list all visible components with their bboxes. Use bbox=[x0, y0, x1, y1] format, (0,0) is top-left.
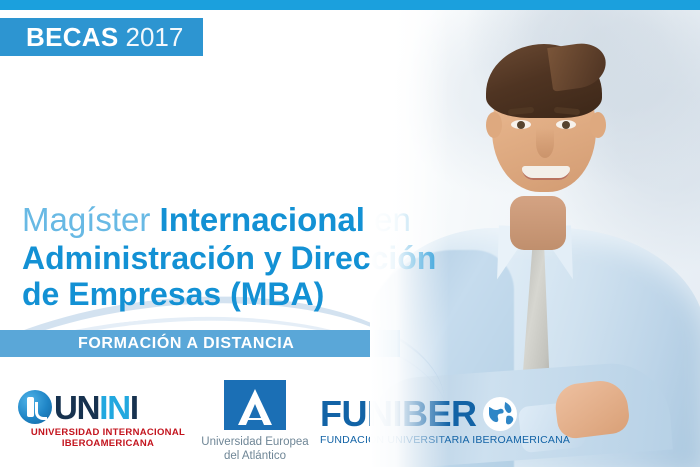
becas-label: BECAS bbox=[26, 22, 119, 53]
uneatlantico-name-line1: Universidad Europea bbox=[200, 435, 310, 449]
uneatlantico-name-line2: del Atlántico bbox=[200, 449, 310, 463]
nose bbox=[536, 128, 554, 158]
unini-wordmark-part1: UN bbox=[54, 389, 99, 426]
eye-left bbox=[511, 120, 531, 129]
headline-en: en bbox=[374, 201, 411, 238]
unini-wordmark-part3: I bbox=[130, 389, 138, 426]
ear-left bbox=[486, 112, 502, 138]
unini-wordmark: UNINI bbox=[54, 391, 138, 424]
modality-label: FORMACIÓN A DISTANCIA bbox=[78, 335, 294, 353]
modality-banner: FORMACIÓN A DISTANCIA bbox=[0, 330, 400, 357]
headline-magister: Magíster bbox=[22, 201, 150, 238]
unini-subtitle-line1: UNIVERSIDAD INTERNACIONAL bbox=[18, 427, 198, 438]
eye-right bbox=[556, 120, 576, 129]
uneatlantico-name: Universidad Europea del Atlántico bbox=[200, 435, 310, 464]
neck bbox=[510, 196, 566, 250]
mouth bbox=[522, 166, 570, 180]
unini-logo: UNINI UNIVERSIDAD INTERNACIONAL IBEROAME… bbox=[18, 390, 198, 449]
logo-row: UNINI UNIVERSIDAD INTERNACIONAL IBEROAME… bbox=[0, 380, 700, 467]
top-accent-bar bbox=[0, 0, 700, 10]
funiber-logo: FUNIBER FUNDACIÓN UNIVERSITARIA IBEROAME… bbox=[320, 396, 620, 446]
unini-wordmark-part2: IN bbox=[99, 389, 130, 426]
funiber-wordmark: FUNIBER bbox=[320, 396, 477, 432]
unini-subtitle-line2: IBEROAMERICANA bbox=[18, 438, 198, 449]
headline-line-1: Magíster Internacional en bbox=[22, 203, 436, 236]
uneatlantico-logo: Universidad Europea del Atlántico bbox=[200, 380, 310, 464]
becas-badge: BECAS 2017 bbox=[0, 18, 203, 56]
page-title: Magíster Internacional en Administración… bbox=[22, 203, 436, 310]
uneatlantico-crest-bar bbox=[244, 418, 266, 420]
headline-line-2: Administración y Dirección bbox=[22, 242, 436, 274]
uneatlantico-crest-icon bbox=[224, 380, 286, 430]
globe-icon bbox=[483, 397, 517, 431]
headline-line-3: de Empresas (MBA) bbox=[22, 278, 436, 310]
scholarship-poster: BECAS 2017 Magíster Internacional en Adm… bbox=[0, 0, 700, 467]
unini-emblem-icon bbox=[18, 390, 52, 424]
ear-right bbox=[590, 112, 606, 138]
funiber-subtitle: FUNDACIÓN UNIVERSITARIA IBEROAMERICANA bbox=[320, 434, 620, 446]
becas-year: 2017 bbox=[126, 22, 184, 53]
unini-wordmark-row: UNINI bbox=[18, 390, 198, 424]
funiber-wordmark-row: FUNIBER bbox=[320, 396, 620, 432]
headline-internacional: Internacional bbox=[160, 201, 365, 238]
